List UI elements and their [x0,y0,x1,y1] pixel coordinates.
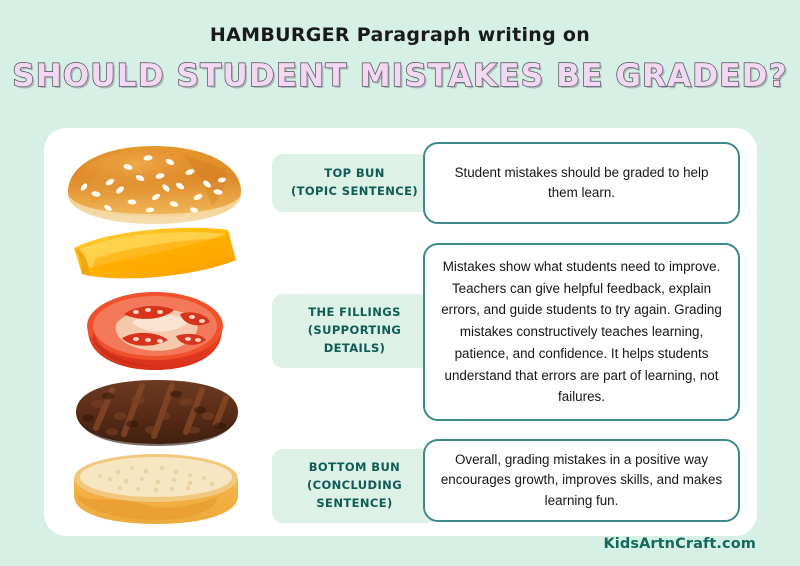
label-pill-line: BOTTOM BUN [309,459,400,477]
paragraph-text: Mistakes show what students need to impr… [439,256,724,408]
top-bun-illustration [62,142,247,232]
page-header: HAMBURGER Paragraph writing on SHOULD ST… [0,0,800,94]
hamburger-rows: TOP BUN (TOPIC SENTENCE) THE FILLINGS (S… [44,128,757,536]
label-pill-line: (TOPIC SENTENCE) [291,183,418,201]
cheese-slice-illustration [68,224,243,291]
label-pill-top-bun: TOP BUN (TOPIC SENTENCE) [272,154,437,212]
paragraph-box-topic-sentence: Student mistakes should be graded to hel… [423,142,740,224]
beef-patty-illustration [68,376,246,453]
paragraph-box-concluding-sentence: Overall, grading mistakes in a positive … [423,439,740,522]
site-brand: KidsArtnCraft.com [603,536,756,552]
paragraph-text: Overall, grading mistakes in a positive … [439,450,724,510]
label-pill-line: DETAILS) [324,340,386,358]
label-pill-bottom-bun: BOTTOM BUN (CONCLUDING SENTENCE) [272,449,437,523]
hamburger-illustration-column [62,128,252,536]
tomato-slice-illustration [80,286,230,377]
eyebrow-text: HAMBURGER Paragraph writing on [0,24,800,46]
label-pill-line: TOP BUN [324,165,385,183]
page-title: SHOULD STUDENT MISTAKES BE GRADED? [0,58,800,94]
label-pill-line: THE FILLINGS [308,304,401,322]
bottom-bun-illustration [66,448,246,531]
paragraph-box-supporting-details: Mistakes show what students need to impr… [423,243,740,421]
label-pill-line: SENTENCE) [316,495,392,513]
content-card: TOP BUN (TOPIC SENTENCE) THE FILLINGS (S… [44,128,757,536]
paragraph-text: Student mistakes should be graded to hel… [439,163,724,203]
label-pill-line: (SUPPORTING [308,322,401,340]
label-pill-line: (CONCLUDING [307,477,402,495]
label-pill-fillings: THE FILLINGS (SUPPORTING DETAILS) [272,294,437,368]
